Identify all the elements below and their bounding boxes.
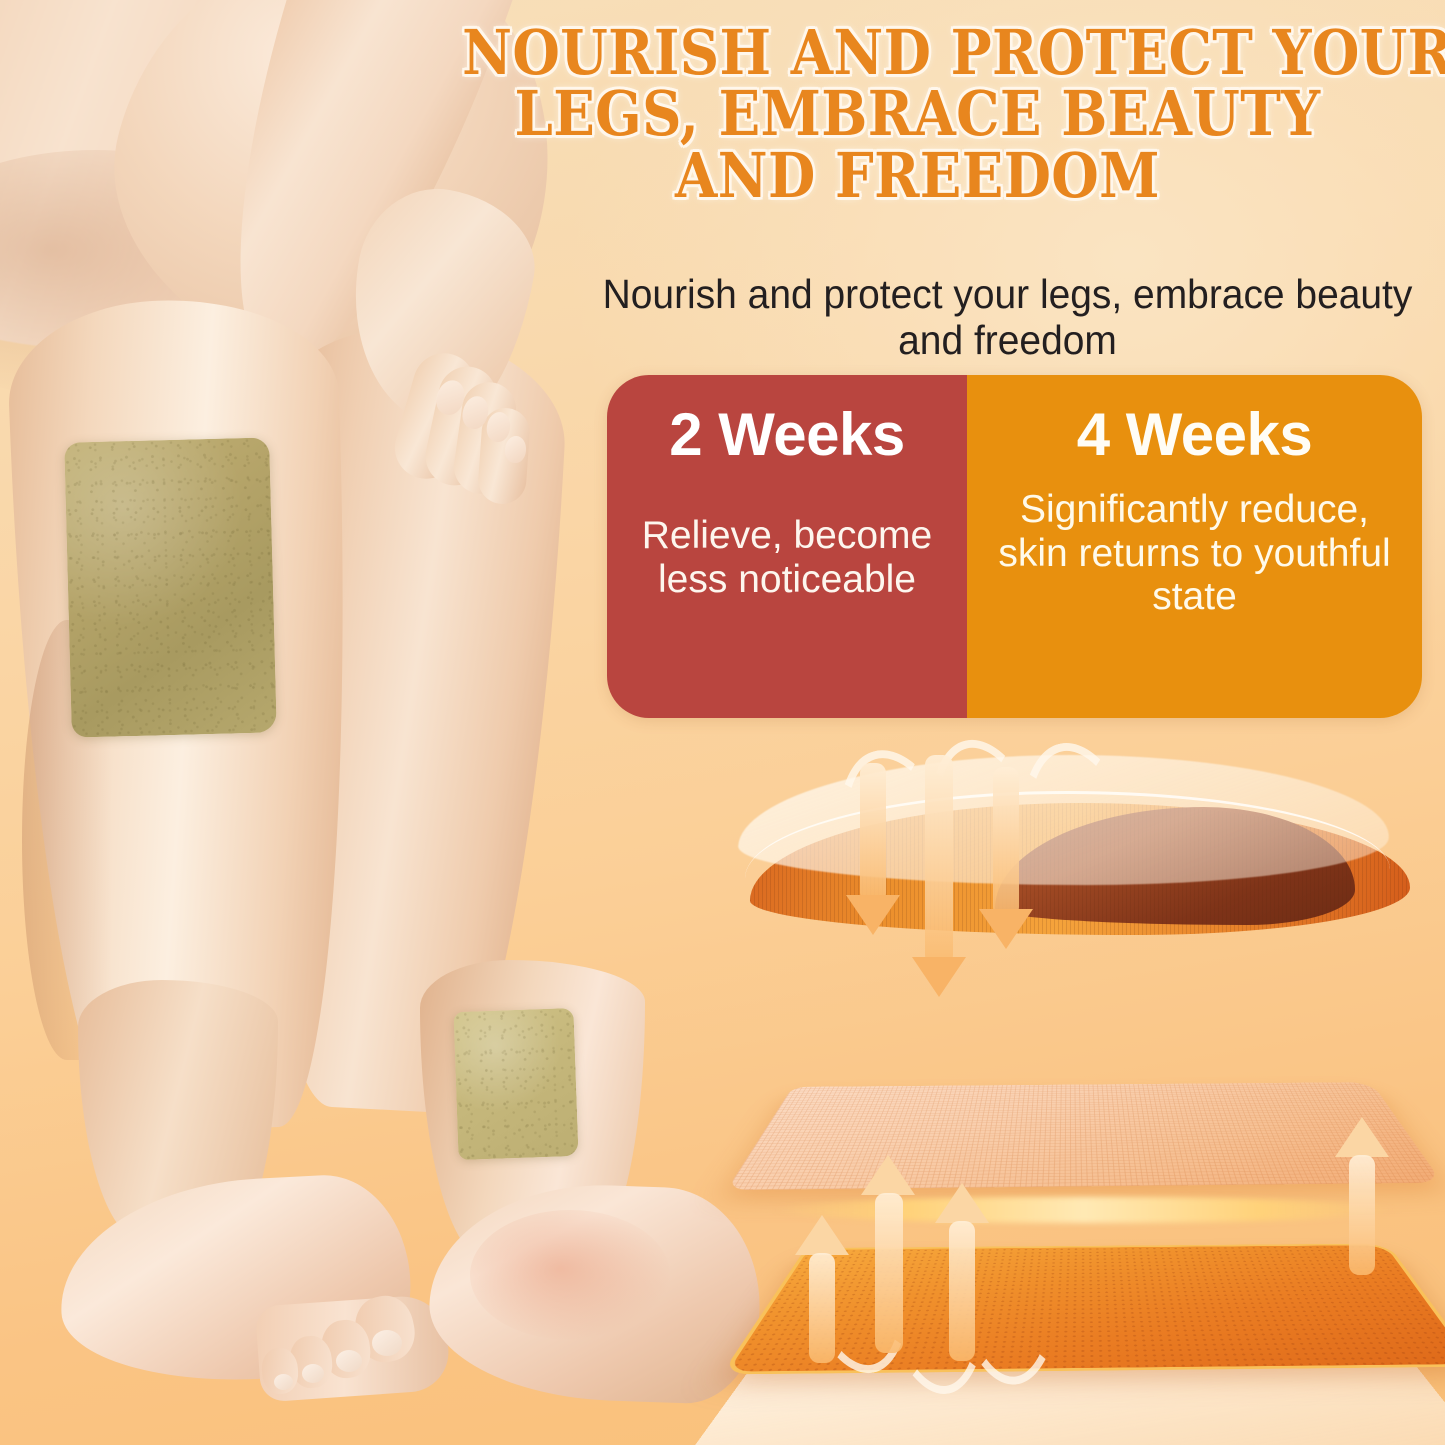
- patch-texture: [453, 1008, 578, 1160]
- panel-4-weeks-title: 4 Weeks: [1077, 403, 1313, 466]
- toenail: [302, 1364, 324, 1383]
- heel-shadow: [470, 1210, 670, 1340]
- toenail: [274, 1374, 293, 1390]
- product-banner: NOURISH AND PROTECT YOUR LEGS, EMBRACE B…: [0, 0, 1445, 1445]
- toenail: [336, 1350, 362, 1372]
- herbal-patch-on-calf: [64, 437, 277, 737]
- timeline-panel-4-weeks: 4 Weeks Significantly reduce, skin retur…: [967, 375, 1422, 718]
- headline-line-1: NOURISH AND PROTECT YOUR: [462, 22, 1373, 83]
- herbal-patch-on-ankle: [453, 1008, 578, 1160]
- panel-2-weeks-title: 2 Weeks: [669, 403, 905, 466]
- toenail: [372, 1330, 402, 1356]
- panel-4-weeks-description: Significantly reduce, skin returns to yo…: [985, 488, 1404, 619]
- product-layer-diagram: [735, 745, 1435, 1405]
- subtitle: Nourish and protect your legs, embrace b…: [601, 272, 1413, 364]
- timeline-panel-2-weeks: 2 Weeks Relieve, become less noticeable: [607, 375, 967, 718]
- model-photo: [0, 0, 760, 1445]
- headline-line-3: AND FREEDOM: [462, 145, 1373, 206]
- patch-texture: [64, 437, 277, 737]
- timeline-comparison-card: 2 Weeks Relieve, become less noticeable …: [607, 375, 1422, 718]
- panel-2-weeks-description: Relieve, become less noticeable: [625, 514, 949, 601]
- headline-line-2: LEGS, EMBRACE BEAUTY: [462, 83, 1373, 144]
- page-title: NOURISH AND PROTECT YOUR LEGS, EMBRACE B…: [462, 22, 1373, 206]
